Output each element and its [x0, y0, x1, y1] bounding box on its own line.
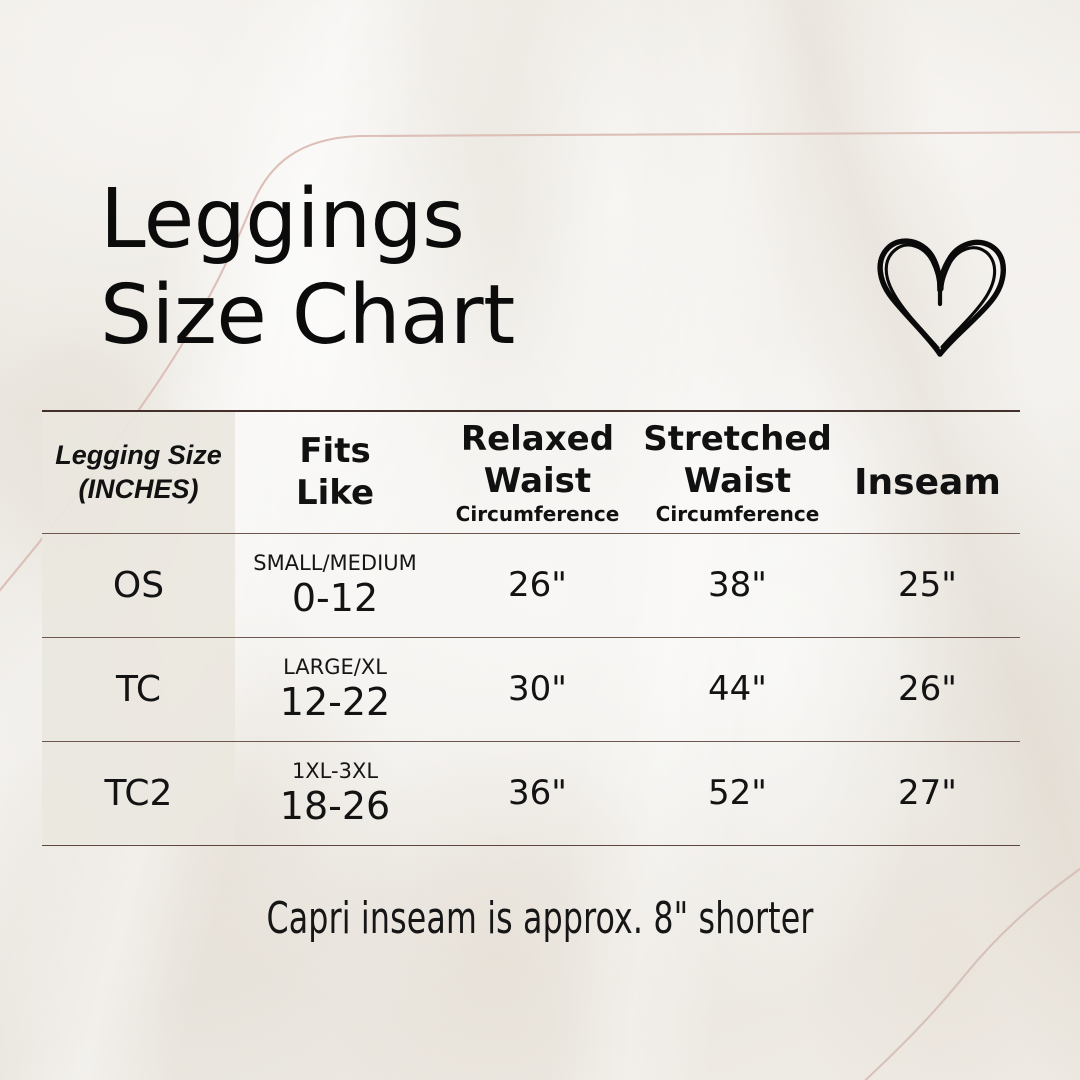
- header-stretched-waist-sub: Circumference: [640, 502, 835, 526]
- header-fits-like-line1: Fits: [235, 430, 435, 472]
- cell-inseam: 27": [835, 741, 1020, 845]
- table-row: OS SMALL/MEDIUM 0-12 26" 38" 25": [42, 533, 1020, 637]
- header-legging-size: Legging Size (INCHES): [42, 411, 235, 533]
- header-stretched-waist-line1: Stretched: [640, 418, 835, 460]
- cell-relaxed-waist: 36": [435, 741, 640, 845]
- size-chart-table: Legging Size (INCHES) Fits Like Relaxed …: [42, 410, 1020, 846]
- header-fits-like: Fits Like: [235, 411, 435, 533]
- title-line-1: Leggings: [100, 172, 740, 268]
- header-stretched-waist-line2: Waist: [640, 460, 835, 502]
- header-legging-size-line2: (INCHES): [42, 472, 235, 506]
- table-row: TC2 1XL-3XL 18-26 36" 52" 27": [42, 741, 1020, 845]
- cell-relaxed-waist: 30": [435, 637, 640, 741]
- header-inseam-label: Inseam: [835, 440, 1020, 504]
- cell-fits-like: 1XL-3XL 18-26: [235, 741, 435, 845]
- header-legging-size-line1: Legging Size: [42, 438, 235, 472]
- cell-fits-like-bottom: 0-12: [235, 576, 435, 620]
- footer-note: Capri inseam is approx. 8" shorter: [108, 893, 972, 944]
- header-relaxed-waist: Relaxed Waist Circumference: [435, 411, 640, 533]
- cell-fits-like: SMALL/MEDIUM 0-12: [235, 533, 435, 637]
- title-line-2: Size Chart: [100, 268, 740, 364]
- cell-stretched-waist: 38": [640, 533, 835, 637]
- cell-fits-like-bottom: 18-26: [235, 784, 435, 828]
- header-relaxed-waist-line2: Waist: [435, 460, 640, 502]
- header-relaxed-waist-line1: Relaxed: [435, 418, 640, 460]
- cell-relaxed-waist: 26": [435, 533, 640, 637]
- cell-size: TC: [42, 637, 235, 741]
- page-title: Leggings Size Chart: [100, 172, 740, 364]
- header-stretched-waist: Stretched Waist Circumference: [640, 411, 835, 533]
- table-header-row: Legging Size (INCHES) Fits Like Relaxed …: [42, 411, 1020, 533]
- header-fits-like-line2: Like: [235, 472, 435, 514]
- header-inseam: Inseam: [835, 411, 1020, 533]
- cell-stretched-waist: 52": [640, 741, 835, 845]
- table-row: TC LARGE/XL 12-22 30" 44" 26": [42, 637, 1020, 741]
- heart-doodle-icon: [868, 228, 1016, 364]
- size-chart-canvas: Leggings Size Chart Legging Size (INCH: [0, 0, 1080, 1080]
- cell-size: OS: [42, 533, 235, 637]
- cell-fits-like-bottom: 12-22: [235, 680, 435, 724]
- cell-fits-like: LARGE/XL 12-22: [235, 637, 435, 741]
- cell-inseam: 25": [835, 533, 1020, 637]
- cell-stretched-waist: 44": [640, 637, 835, 741]
- cell-fits-like-top: 1XL-3XL: [235, 758, 435, 784]
- cell-fits-like-top: LARGE/XL: [235, 654, 435, 680]
- cell-size: TC2: [42, 741, 235, 845]
- header-relaxed-waist-sub: Circumference: [435, 502, 640, 526]
- cell-inseam: 26": [835, 637, 1020, 741]
- cell-fits-like-top: SMALL/MEDIUM: [235, 550, 435, 576]
